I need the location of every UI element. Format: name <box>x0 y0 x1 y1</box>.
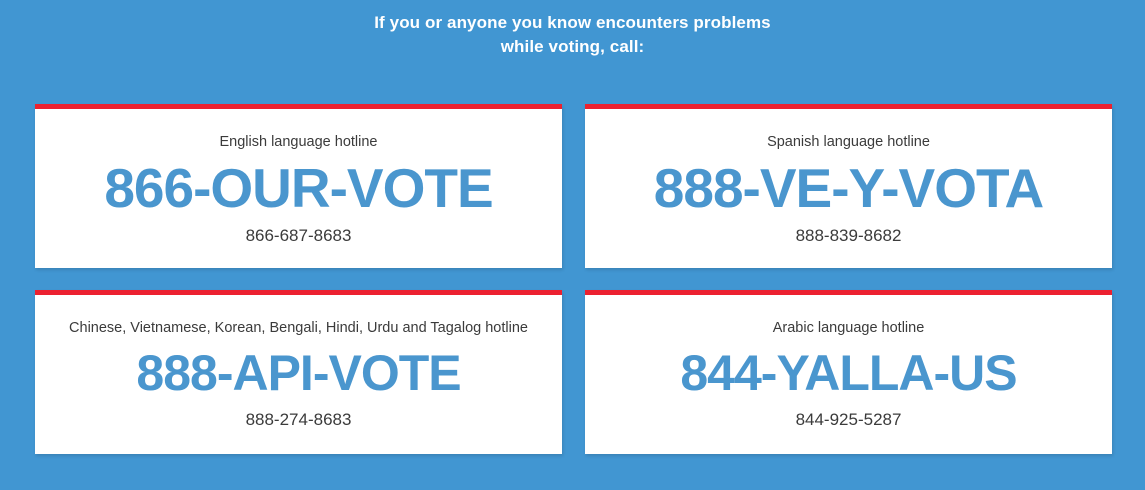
hotline-dial-number[interactable]: 888-839-8682 <box>796 225 902 247</box>
hotline-card-asian-languages[interactable]: Chinese, Vietnamese, Korean, Bengali, Hi… <box>35 290 562 454</box>
hotline-card-grid: English language hotline 866-OUR-VOTE 86… <box>35 104 1112 454</box>
hotline-card-label: Spanish language hotline <box>759 133 938 151</box>
page-title-line-2: while voting, call: <box>0 35 1145 59</box>
hotline-card-label: English language hotline <box>211 133 385 151</box>
hotline-vanity-number[interactable]: 888-API-VOTE <box>136 342 460 404</box>
hotline-card-arabic[interactable]: Arabic language hotline 844-YALLA-US 844… <box>585 290 1112 454</box>
hotline-card-spanish[interactable]: Spanish language hotline 888-VE-Y-VOTA 8… <box>585 104 1112 268</box>
hotline-dial-number[interactable]: 844-925-5287 <box>796 409 902 431</box>
hotline-vanity-number[interactable]: 888-VE-Y-VOTA <box>654 156 1043 220</box>
page-title-line-1: If you or anyone you know encounters pro… <box>0 11 1145 35</box>
hotline-vanity-number[interactable]: 866-OUR-VOTE <box>104 156 492 220</box>
hotline-card-english[interactable]: English language hotline 866-OUR-VOTE 86… <box>35 104 562 268</box>
page-title: If you or anyone you know encounters pro… <box>0 11 1145 59</box>
hotline-dial-number[interactable]: 888-274-8683 <box>246 409 352 431</box>
hotline-dial-number[interactable]: 866-687-8683 <box>246 225 352 247</box>
voter-hotline-panel: If you or anyone you know encounters pro… <box>0 0 1145 490</box>
hotline-card-label: Chinese, Vietnamese, Korean, Bengali, Hi… <box>61 319 536 337</box>
hotline-vanity-number[interactable]: 844-YALLA-US <box>680 342 1016 404</box>
hotline-card-label: Arabic language hotline <box>765 319 933 337</box>
